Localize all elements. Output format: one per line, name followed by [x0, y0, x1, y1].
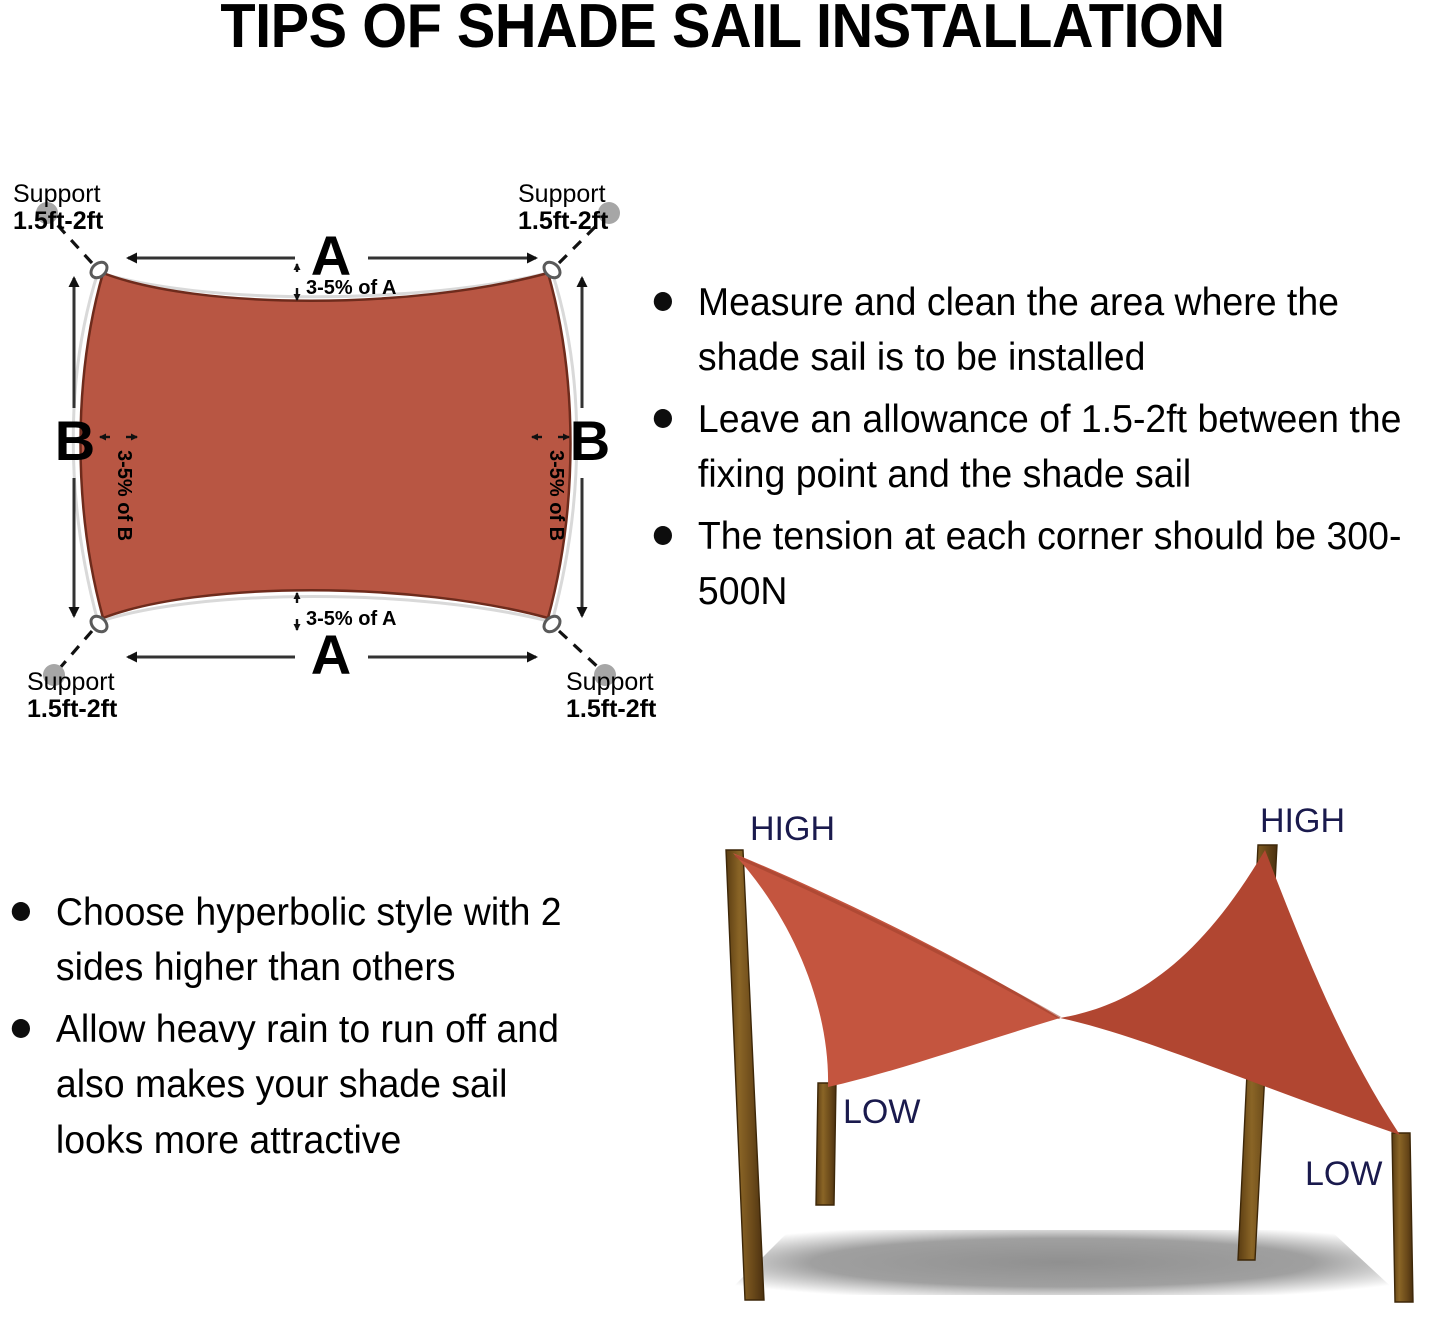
curve-label-bottom: 3-5% of A: [306, 608, 396, 630]
support-label-line1: Support: [566, 668, 654, 696]
installation-tips-list-top: Measure and clean the area where the sha…: [648, 275, 1445, 625]
post-back-left-high: [726, 850, 764, 1300]
post-front-right-low: [1392, 1133, 1413, 1302]
curve-label-left: 3-5% of B: [113, 450, 135, 541]
list-item: Measure and clean the area where the sha…: [648, 275, 1426, 386]
bullet-icon: [654, 292, 672, 311]
shade-sail-fabric: [81, 273, 571, 618]
corner-label-low-right: LOW: [1305, 1155, 1382, 1193]
curve-label-top: 3-5% of A: [306, 277, 396, 299]
support-label-line1: Support: [13, 180, 101, 208]
dimension-label-a-bottom: A: [311, 623, 351, 686]
support-label-line2: 1.5ft-2ft: [518, 207, 609, 235]
list-item-label: Allow heavy rain to run off and also mak…: [56, 1002, 601, 1168]
page-title: TIPS OF SHADE SAIL INSTALLATION: [51, 0, 1395, 59]
installation-tips-list-bottom: Choose hyperbolic style with 2 sides hig…: [6, 885, 626, 1174]
list-item-label: Leave an allowance of 1.5-2ft between th…: [698, 392, 1426, 503]
support-label-line1: Support: [27, 668, 115, 696]
list-item-label: Measure and clean the area where the sha…: [698, 275, 1426, 386]
support-label-top-right: Support 1.5ft-2ft: [518, 180, 609, 235]
list-item: Leave an allowance of 1.5-2ft between th…: [648, 392, 1426, 503]
post-front-left-low: [816, 1083, 836, 1205]
hyperbolic-shade-sail-illustration: HIGH HIGH LOW LOW: [640, 790, 1445, 1320]
support-label-line2: 1.5ft-2ft: [27, 695, 118, 723]
rectangular-shade-sail-dimension-diagram: A A B B 3-5% of A 3-5% of A 3-5% of B 3-…: [0, 160, 660, 740]
list-item-label: The tension at each corner should be 300…: [698, 509, 1426, 620]
support-label-top-left: Support 1.5ft-2ft: [13, 180, 104, 235]
shade-sail-lobe-right: [1060, 850, 1400, 1135]
list-item: The tension at each corner should be 300…: [648, 509, 1426, 620]
list-item: Allow heavy rain to run off and also mak…: [6, 1002, 601, 1168]
support-label-line2: 1.5ft-2ft: [566, 695, 657, 723]
dimension-label-b-left: B: [55, 409, 95, 472]
bullet-icon: [654, 526, 672, 545]
list-item-label: Choose hyperbolic style with 2 sides hig…: [56, 885, 601, 996]
support-label-line2: 1.5ft-2ft: [13, 207, 104, 235]
bullet-icon: [12, 1019, 30, 1038]
corner-label-high-right: HIGH: [1260, 802, 1345, 840]
support-label-line1: Support: [518, 180, 606, 208]
list-item: Choose hyperbolic style with 2 sides hig…: [6, 885, 601, 996]
curve-label-right: 3-5% of B: [545, 450, 567, 541]
corner-label-low-left: LOW: [843, 1093, 920, 1131]
bullet-icon: [12, 902, 30, 921]
corner-label-high-left: HIGH: [750, 810, 835, 848]
support-label-bottom-left: Support 1.5ft-2ft: [27, 668, 118, 723]
ground-shadow: [725, 1230, 1400, 1295]
support-label-bottom-right: Support 1.5ft-2ft: [566, 668, 657, 723]
dimension-label-b-right: B: [570, 409, 610, 472]
bullet-icon: [654, 409, 672, 428]
shade-sail-lobe-left: [733, 853, 1060, 1087]
